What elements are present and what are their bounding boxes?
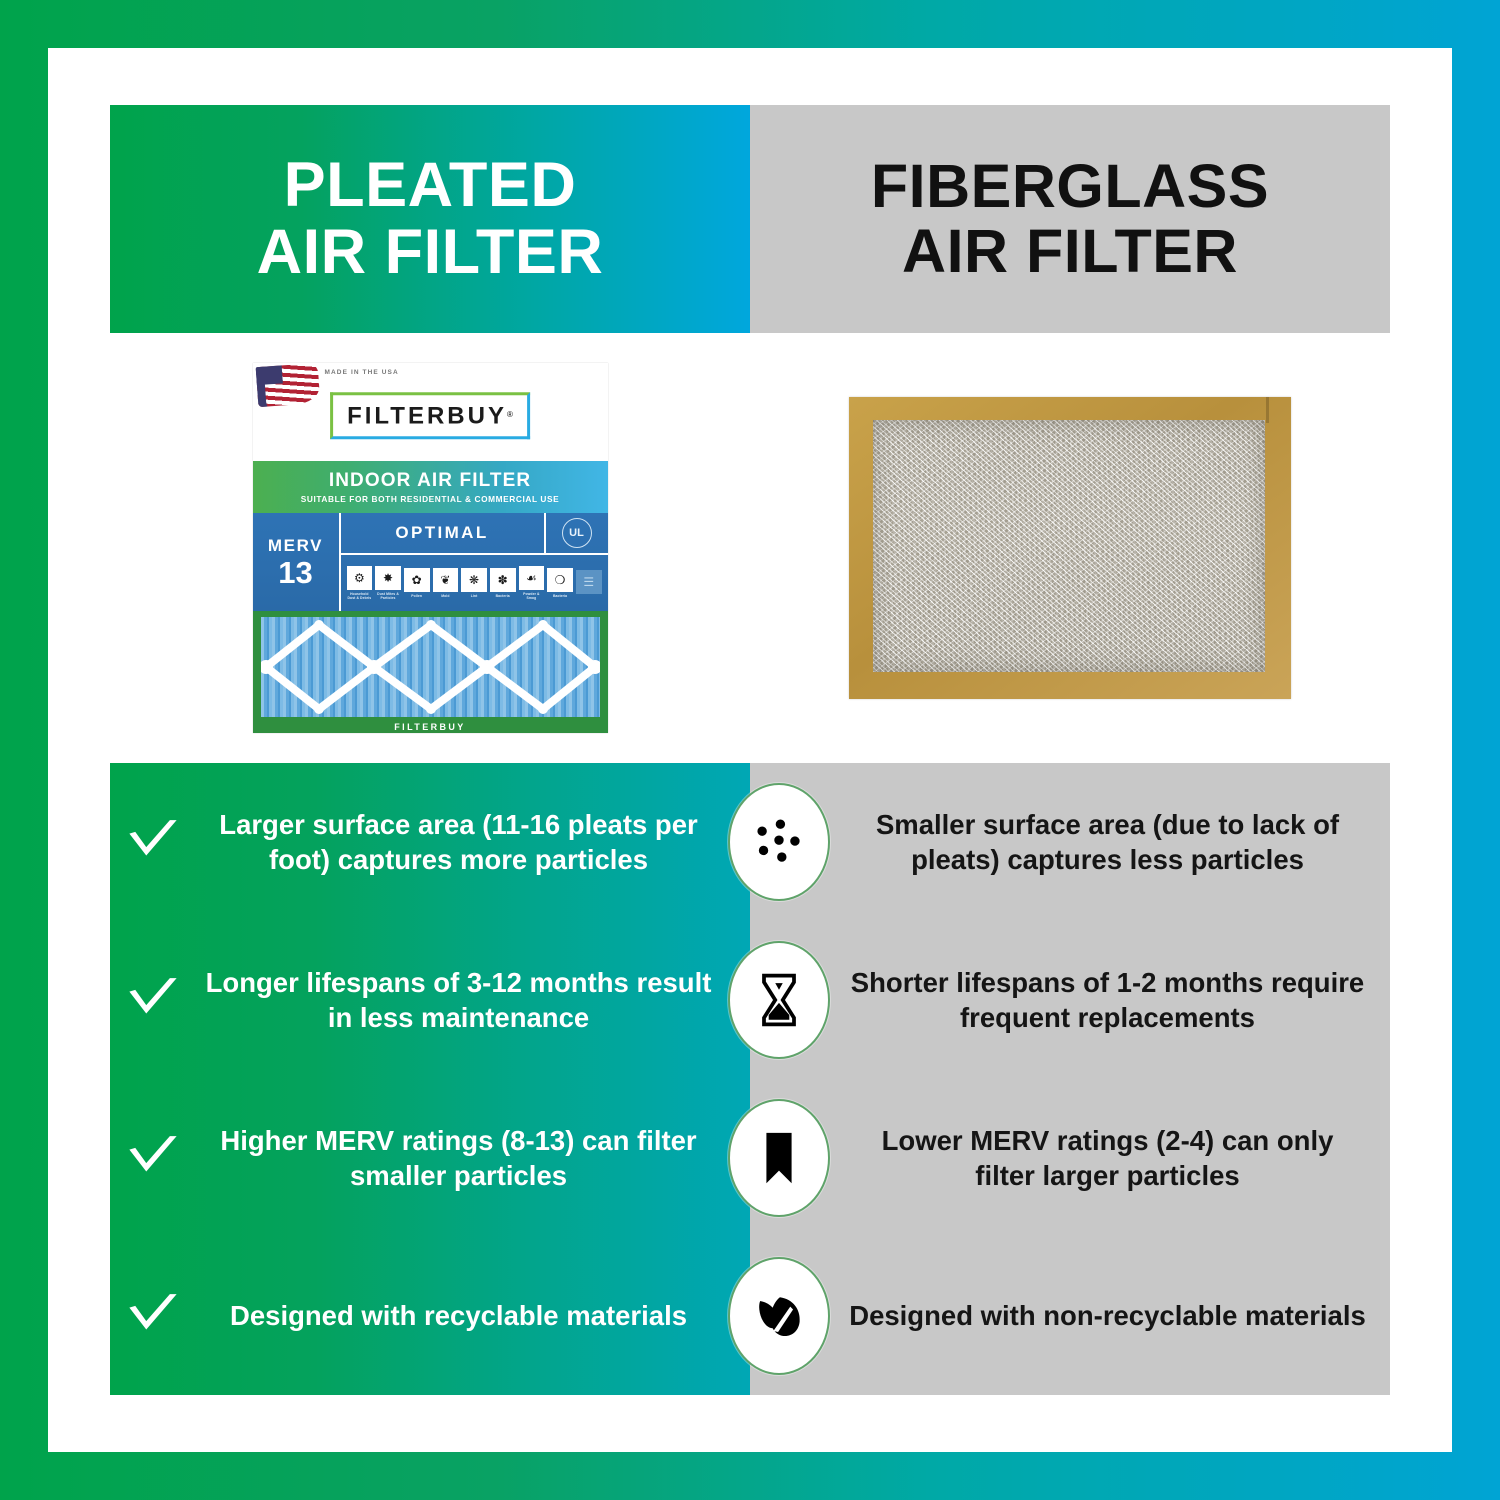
fiberglass-drawback-text: Shorter lifespans of 1-2 months require … <box>779 965 1390 1035</box>
header-row: PLEATED AIR FILTER FIBERGLASS AIR FILTER <box>110 105 1390 333</box>
pleated-footer-brand: FILTERBUY <box>253 722 608 732</box>
capture-icon-caption: Household Dust & Debris <box>347 592 373 601</box>
made-in-usa-label: MADE IN THE USA <box>325 369 399 378</box>
comparison-row: Higher MERV ratings (8-13) can filter sm… <box>110 1079 1390 1237</box>
capture-icon-caption: Dust Mites & Particles <box>375 592 401 601</box>
fiberglass-filter-image <box>849 397 1291 699</box>
capture-glyph-icon: ❦ <box>433 568 459 592</box>
capture-glyph-icon: ❋ <box>461 568 487 592</box>
capture-icon-caption: Bacteria <box>553 594 567 598</box>
checkmark-icon <box>110 1289 196 1343</box>
capture-icon-7: ☙Powder & Smog <box>519 566 545 601</box>
filterbuy-logo: FILTERBUY® <box>330 392 530 439</box>
header-pleated: PLEATED AIR FILTER <box>110 105 750 333</box>
fiberglass-drawback-text: Lower MERV ratings (2-4) can only filter… <box>779 1123 1390 1193</box>
merv-badge: MERV 13 <box>253 513 341 611</box>
header-pleated-line1: PLEATED <box>257 152 604 219</box>
checkmark-icon <box>110 815 196 869</box>
registered-mark: ® <box>507 410 513 419</box>
capture-icon-8: ❍Bacteria <box>547 568 573 598</box>
merv-value: 13 <box>278 557 312 588</box>
capture-glyph-icon: ✿ <box>404 568 430 592</box>
capture-icon-caption: Lint <box>471 594 478 598</box>
capture-icon-caption: Mold <box>441 594 449 598</box>
pleated-benefit-text: Designed with recyclable materials <box>196 1298 779 1333</box>
usa-flag-icon <box>255 363 320 407</box>
header-pleated-line2: AIR FILTER <box>257 219 604 286</box>
pleated-benefit-text: Higher MERV ratings (8-13) can filter sm… <box>196 1123 779 1193</box>
indoor-air-filter-subtitle: SUITABLE FOR BOTH RESIDENTIAL & COMMERCI… <box>301 494 560 504</box>
fiberglass-drawback-text: Smaller surface area (due to lack of ple… <box>779 807 1390 877</box>
capture-glyph-icon: ✸ <box>375 566 401 590</box>
capture-icon-4: ❦Mold <box>433 568 459 598</box>
pleated-box-specs-right: OPTIMAL UL ⚙Household Dust & Debris✸Dust… <box>341 513 608 611</box>
capture-glyph-icon: ☙ <box>519 566 545 590</box>
comparison-row: Designed with recyclable materialsDesign… <box>110 1237 1390 1395</box>
product-images-row: MADE IN THE USA FILTERBUY® INDOOR AIR FI… <box>110 333 1390 763</box>
comparison-row: Larger surface area (11-16 pleats per fo… <box>110 763 1390 921</box>
checkmark-icon <box>110 1131 196 1185</box>
tier-row: OPTIMAL UL <box>341 513 608 555</box>
pleated-box-specs: MERV 13 OPTIMAL UL ⚙Household Dust & Deb… <box>253 513 608 611</box>
header-fiberglass-line1: FIBERGLASS <box>871 154 1269 219</box>
bookmark-icon <box>728 1099 830 1217</box>
capture-icon-1: ⚙Household Dust & Debris <box>347 566 373 601</box>
diamond-wire-mesh-icon <box>261 617 600 717</box>
header-fiberglass: FIBERGLASS AIR FILTER <box>750 105 1390 333</box>
pleated-media-area: FILTERBUY <box>253 611 608 733</box>
blue-pleat-media <box>261 617 600 717</box>
pleated-filter-image: MADE IN THE USA FILTERBUY® INDOOR AIR FI… <box>253 363 608 733</box>
infographic-card: PLEATED AIR FILTER FIBERGLASS AIR FILTER… <box>48 48 1452 1452</box>
capture-icon-row: ⚙Household Dust & Debris✸Dust Mites & Pa… <box>341 555 608 611</box>
capture-icon-3: ✿Pollen <box>404 568 430 598</box>
capture-icon-9: ☰ <box>576 570 602 596</box>
pleated-box-top: MADE IN THE USA FILTERBUY® <box>253 363 608 461</box>
pleated-image-cell: MADE IN THE USA FILTERBUY® INDOOR AIR FI… <box>110 363 750 733</box>
capture-glyph-icon: ☰ <box>576 570 602 594</box>
merv-label: MERV <box>268 536 323 556</box>
pleated-benefit-text: Longer lifespans of 3-12 months result i… <box>196 965 779 1035</box>
hourglass-icon <box>728 941 830 1059</box>
capture-icon-caption: Powder & Smog <box>519 592 545 601</box>
pleated-benefit-text: Larger surface area (11-16 pleats per fo… <box>196 807 779 877</box>
pleated-box-band: INDOOR AIR FILTER SUITABLE FOR BOTH RESI… <box>253 461 608 513</box>
fiberglass-image-cell <box>750 397 1390 699</box>
checkmark-icon <box>110 973 196 1027</box>
particles-icon <box>728 783 830 901</box>
infographic-content: PLEATED AIR FILTER FIBERGLASS AIR FILTER… <box>110 105 1390 1395</box>
capture-glyph-icon: ⚙ <box>347 566 373 590</box>
capture-icon-2: ✸Dust Mites & Particles <box>375 566 401 601</box>
capture-glyph-icon: ❍ <box>547 568 573 592</box>
ul-cert-cell: UL <box>546 513 608 553</box>
comparison-rows: Larger surface area (11-16 pleats per fo… <box>110 763 1390 1395</box>
filterbuy-logo-text: FILTERBUY <box>347 402 507 429</box>
indoor-air-filter-title: INDOOR AIR FILTER <box>329 470 531 492</box>
leaf-icon <box>728 1257 830 1375</box>
fiberglass-drawback-text: Designed with non-recyclable materials <box>779 1298 1390 1333</box>
capture-icon-5: ❋Lint <box>461 568 487 598</box>
fiberglass-media <box>873 420 1265 672</box>
capture-icon-caption: Pollen <box>411 594 422 598</box>
tier-label: OPTIMAL <box>341 513 546 553</box>
comparison-section: Larger surface area (11-16 pleats per fo… <box>110 763 1390 1395</box>
capture-icon-caption: Bacteria <box>496 594 510 598</box>
header-fiberglass-line2: AIR FILTER <box>871 219 1269 284</box>
capture-glyph-icon: ✽ <box>490 568 516 592</box>
ul-certification-icon: UL <box>562 518 592 548</box>
comparison-row: Longer lifespans of 3-12 months result i… <box>110 921 1390 1079</box>
capture-icon-6: ✽Bacteria <box>490 568 516 598</box>
